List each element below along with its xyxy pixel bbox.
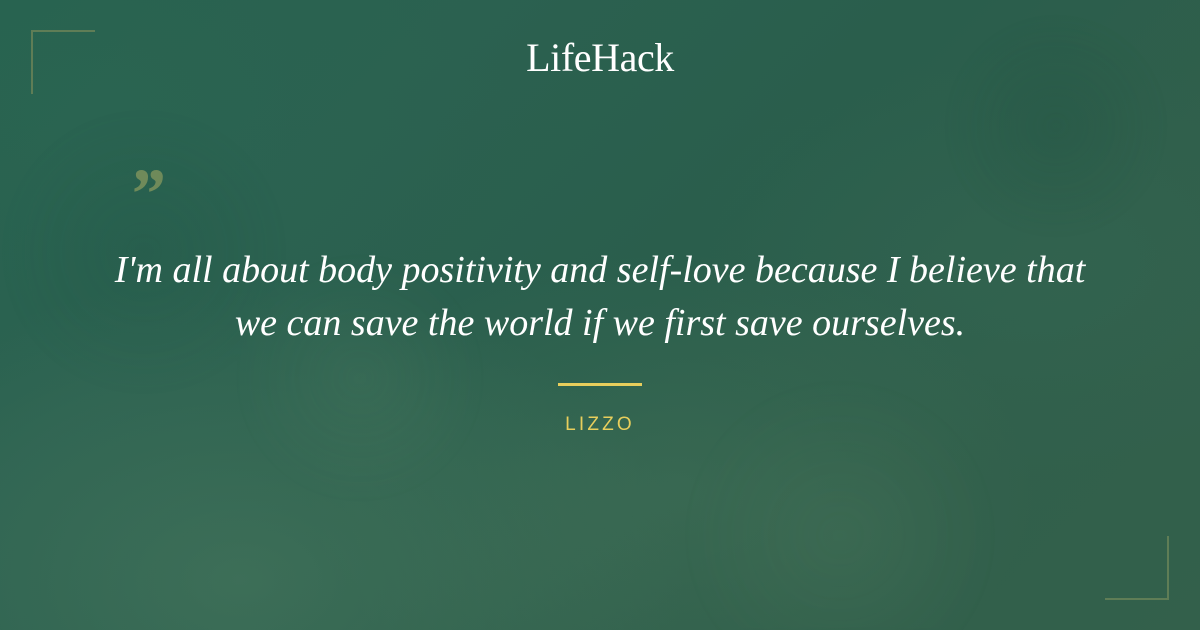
quote-author: LIZZO	[0, 413, 1200, 437]
quote-text: I'm all about body positivity and self-l…	[100, 244, 1100, 350]
quote-content: ” I'm all about body positivity and self…	[0, 0, 1200, 630]
quotation-mark-icon: ”	[128, 158, 164, 230]
attribution-divider	[558, 383, 642, 386]
quote-card: LifeHack ” I'm all about body positivity…	[0, 0, 1200, 630]
